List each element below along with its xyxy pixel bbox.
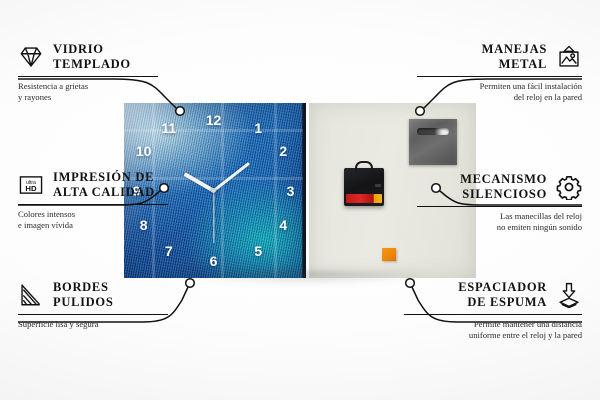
clock-center-cap bbox=[211, 188, 216, 193]
movement-battery-label bbox=[346, 194, 383, 203]
quartz-clock-movement bbox=[344, 168, 384, 206]
feature-desc-line1: Permiten una fácil instalación bbox=[417, 81, 582, 93]
feature-bordes-pulidos[interactable]: BORDES PULIDOS Superficie lisa y segura bbox=[18, 280, 168, 330]
feature-heading: MECANISMO SILENCIOSO bbox=[417, 172, 582, 202]
feature-desc-line1: Colores intensos bbox=[18, 209, 168, 221]
polished-edge-icon bbox=[18, 282, 44, 308]
feature-vidrio-templado[interactable]: VIDRIO TEMPLADO Resistencia a grietas y … bbox=[18, 42, 158, 104]
divider bbox=[18, 76, 158, 77]
clock-numeral-11: 11 bbox=[161, 121, 176, 135]
divider bbox=[417, 76, 582, 77]
clock-numeral-3: 3 bbox=[287, 184, 295, 198]
clock-numeral-6: 6 bbox=[210, 254, 218, 268]
feature-title: MECANISMO SILENCIOSO bbox=[460, 172, 547, 202]
clock-numeral-1: 1 bbox=[254, 121, 262, 135]
feature-desc-line2: uniforme entre el reloj y la pared bbox=[404, 330, 582, 342]
feature-desc-line2: del reloj en la pared bbox=[417, 92, 582, 104]
clock-numeral-12: 12 bbox=[206, 113, 222, 127]
feature-desc-line2: no emiten ningún sonido bbox=[417, 222, 582, 234]
press-down-arrow-icon bbox=[556, 282, 582, 308]
divider bbox=[18, 204, 168, 205]
feature-title: MANEJAS METAL bbox=[482, 42, 547, 72]
gear-icon bbox=[556, 174, 582, 200]
feature-title: BORDES PULIDOS bbox=[53, 280, 113, 310]
pattern-line bbox=[124, 129, 303, 132]
clock-hour-hand bbox=[183, 172, 214, 192]
divider bbox=[404, 314, 582, 315]
movement-detail bbox=[375, 184, 381, 187]
clock-numeral-5: 5 bbox=[254, 244, 262, 258]
feature-heading: ultra HD IMPRESIÓN DE ALTA CALIDAD bbox=[18, 170, 168, 200]
foam-spacer bbox=[382, 248, 396, 261]
clock-numeral-4: 4 bbox=[279, 218, 287, 232]
clock-numeral-7: 7 bbox=[165, 244, 173, 258]
divider bbox=[18, 314, 168, 315]
feature-title: VIDRIO TEMPLADO bbox=[53, 42, 131, 72]
metal-hanger-plate bbox=[409, 119, 457, 165]
feature-espaciador-espuma[interactable]: ESPACIADOR DE ESPUMA Permite mantener un… bbox=[404, 280, 582, 342]
feature-heading: ESPACIADOR DE ESPUMA bbox=[404, 280, 582, 310]
clock-numeral-10: 10 bbox=[136, 144, 152, 158]
feature-heading: BORDES PULIDOS bbox=[18, 280, 168, 310]
picture-hanging-icon bbox=[556, 44, 582, 70]
hanger-slot bbox=[417, 128, 450, 135]
feature-title: IMPRESIÓN DE ALTA CALIDAD bbox=[53, 170, 155, 200]
clock-numeral-2: 2 bbox=[279, 144, 287, 158]
ultra-hd-icon: ultra HD bbox=[18, 172, 44, 198]
movement-hanging-loop bbox=[355, 161, 373, 171]
feature-desc-line2: e imagen vívida bbox=[18, 220, 168, 232]
svg-text:HD: HD bbox=[25, 184, 37, 193]
diamond-icon bbox=[18, 44, 44, 70]
clock-second-hand bbox=[213, 191, 214, 243]
feature-impresion-alta-calidad[interactable]: ultra HD IMPRESIÓN DE ALTA CALIDAD Color… bbox=[18, 170, 168, 232]
feature-desc-line1: Resistencia a grietas bbox=[18, 81, 158, 93]
feature-mecanismo-silencioso[interactable]: MECANISMO SILENCIOSO Las manecillas del … bbox=[417, 172, 582, 234]
feature-title: ESPACIADOR DE ESPUMA bbox=[458, 280, 547, 310]
feature-desc-line2: y rayones bbox=[18, 92, 158, 104]
feature-desc-line1: Las manecillas del reloj bbox=[417, 211, 582, 223]
infographic-canvas: 12 1 2 3 4 5 6 7 8 9 10 11 bbox=[0, 0, 600, 400]
divider bbox=[417, 206, 582, 207]
feature-heading: MANEJAS METAL bbox=[417, 42, 582, 72]
feature-manejas-metal[interactable]: MANEJAS METAL Permiten una fácil instala… bbox=[417, 42, 582, 104]
feature-desc-line1: Superficie lisa y segura bbox=[18, 319, 168, 331]
feature-heading: VIDRIO TEMPLADO bbox=[18, 42, 158, 72]
feature-desc-line1: Permite mantener una distancia bbox=[404, 319, 582, 331]
